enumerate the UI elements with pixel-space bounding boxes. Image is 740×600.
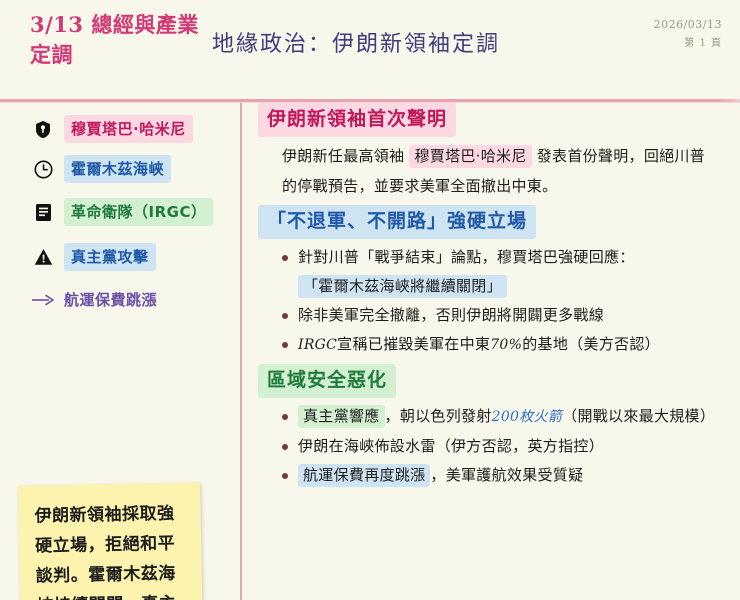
bullet-item: 針對川普「戰爭結束」論點，穆賈塔巴強硬回應： bbox=[280, 243, 726, 272]
content-section-1: 伊朗新領袖首次聲明伊朗新任最高領袖 穆賈塔巴·哈米尼 發表首份聲明，回絕川普的停… bbox=[258, 103, 732, 201]
highlighted-text: IRGC bbox=[298, 337, 337, 353]
keyword-item-5[interactable]: 航運保費跳漲 bbox=[32, 286, 164, 314]
bullet-item: IRGC宣稱已摧毀美軍在中東70%的基地（美方否認） bbox=[280, 330, 726, 360]
highlighted-text: 70% bbox=[490, 337, 522, 353]
column-divider bbox=[240, 103, 242, 600]
bullet-list: 針對川普「戰爭結束」論點，穆賈塔巴強硬回應：「霍爾木茲海峽將繼續關閉」除非美軍完… bbox=[258, 243, 732, 360]
bullet-item: 「霍爾木茲海峽將繼續關閉」 bbox=[280, 272, 726, 301]
text-run: ，美軍護航效果受質疑 bbox=[430, 466, 583, 484]
header-date: 2026/03/13 bbox=[654, 18, 722, 31]
page-title: 地緣政治：伊朗新領袖定調 bbox=[212, 30, 612, 60]
clock-icon bbox=[32, 158, 54, 180]
sticky-note: 伊朗新領袖採取強硬立場，拒絕和平談判。霍爾木茲海峽持續關閉，真主黨發動大規模攻擊… bbox=[18, 482, 204, 600]
keyword-label: 革命衛隊（IRGC） bbox=[64, 198, 213, 226]
bullet-list: 真主黨響應，朝以色列發射200枚火箭（開戰以來最大規模）伊朗在海峽佈設水雷（伊方… bbox=[258, 402, 732, 490]
text-run: （開戰以來最大規模） bbox=[562, 407, 715, 425]
keyword-item-1[interactable]: 穆賈塔巴·哈米尼 bbox=[32, 115, 193, 143]
content-section-2: 「不退軍、不開路」強硬立場針對川普「戰爭結束」論點，穆賈塔巴強硬回應：「霍爾木茲… bbox=[258, 205, 732, 360]
slide-page: 3/13 總經與產業定調 地緣政治：伊朗新領袖定調 2026/03/13 第 1… bbox=[0, 0, 740, 600]
bullet-item: 伊朗在海峽佈設水雷（伊方否認，英方指控） bbox=[280, 432, 726, 461]
slide-body: 穆賈塔巴·哈米尼霍爾木茲海峽革命衛隊（IRGC）真主黨攻擊航運保費跳漲 伊朗新領… bbox=[0, 103, 740, 600]
deck-title: 3/13 總經與產業定調 bbox=[30, 10, 210, 70]
highlighted-text: 真主黨響應 bbox=[298, 405, 385, 428]
bullet-item: 真主黨響應，朝以色列發射200枚火箭（開戰以來最大規模） bbox=[280, 402, 726, 432]
text-run: 除非美軍完全撤離，否則伊朗將開闢更多戰線 bbox=[298, 306, 604, 324]
sticky-note-text: 伊朗新領袖採取強硬立場，拒絕和平談判。霍爾木茲海峽持續關閉，真主黨發動大規模攻擊… bbox=[34, 499, 189, 600]
keyword-item-3[interactable]: 革命衛隊（IRGC） bbox=[32, 198, 213, 226]
arrow-right-icon bbox=[32, 289, 54, 311]
highlighted-text: 200枚火箭 bbox=[492, 409, 563, 425]
bullet-item: 航運保費再度跳漲，美軍護航效果受質疑 bbox=[280, 461, 726, 490]
text-run: 伊朗新任最高領袖 bbox=[282, 147, 409, 165]
text-run: 伊朗在海峽佈設水雷（伊方否認，英方指控） bbox=[298, 437, 604, 455]
section-heading: 區域安全惡化 bbox=[258, 364, 396, 398]
highlighted-text: 穆賈塔巴·哈米尼 bbox=[409, 145, 531, 168]
text-run: 針對川普「戰爭結束」論點，穆賈塔巴強硬回應： bbox=[298, 248, 635, 266]
keyword-label: 霍爾木茲海峽 bbox=[64, 155, 171, 183]
header-meta: 2026/03/13 第 1 頁 bbox=[654, 18, 722, 49]
highlighted-text: 「霍爾木茲海峽將繼續關閉」 bbox=[298, 275, 507, 298]
shield-icon bbox=[32, 118, 54, 140]
warning-icon bbox=[32, 246, 54, 268]
keyword-item-4[interactable]: 真主黨攻擊 bbox=[32, 243, 156, 271]
section-heading: 伊朗新領袖首次聲明 bbox=[258, 103, 456, 137]
bullet-item: 除非美軍完全撤離，否則伊朗將開闢更多戰線 bbox=[280, 301, 726, 330]
keyword-item-2[interactable]: 霍爾木茲海峽 bbox=[32, 155, 171, 183]
text-run: ，朝以色列發射 bbox=[385, 407, 492, 425]
slide-header: 3/13 總經與產業定調 地緣政治：伊朗新領袖定調 2026/03/13 第 1… bbox=[0, 0, 740, 100]
keyword-label: 航運保費跳漲 bbox=[64, 286, 164, 314]
page-number: 第 1 頁 bbox=[654, 34, 722, 49]
keyword-label: 真主黨攻擊 bbox=[64, 243, 156, 271]
text-run: 的基地（美方否認） bbox=[522, 335, 660, 353]
text-run: 宣稱已摧毀美軍在中東 bbox=[337, 335, 490, 353]
section-heading: 「不退軍、不開路」強硬立場 bbox=[258, 205, 536, 239]
keyword-label: 穆賈塔巴·哈米尼 bbox=[64, 115, 193, 143]
sidebar: 穆賈塔巴·哈米尼霍爾木茲海峽革命衛隊（IRGC）真主黨攻擊航運保費跳漲 伊朗新領… bbox=[0, 103, 240, 600]
highlighted-text: 航運保費再度跳漲 bbox=[298, 464, 430, 487]
document-icon bbox=[32, 201, 54, 223]
section-paragraph: 伊朗新任最高領袖 穆賈塔巴·哈米尼 發表首份聲明，回絕川普的停戰預告，並要求美軍… bbox=[258, 137, 732, 201]
main-content: 伊朗新領袖首次聲明伊朗新任最高領袖 穆賈塔巴·哈米尼 發表首份聲明，回絕川普的停… bbox=[258, 103, 732, 600]
content-section-3: 區域安全惡化真主黨響應，朝以色列發射200枚火箭（開戰以來最大規模）伊朗在海峽佈… bbox=[258, 364, 732, 490]
